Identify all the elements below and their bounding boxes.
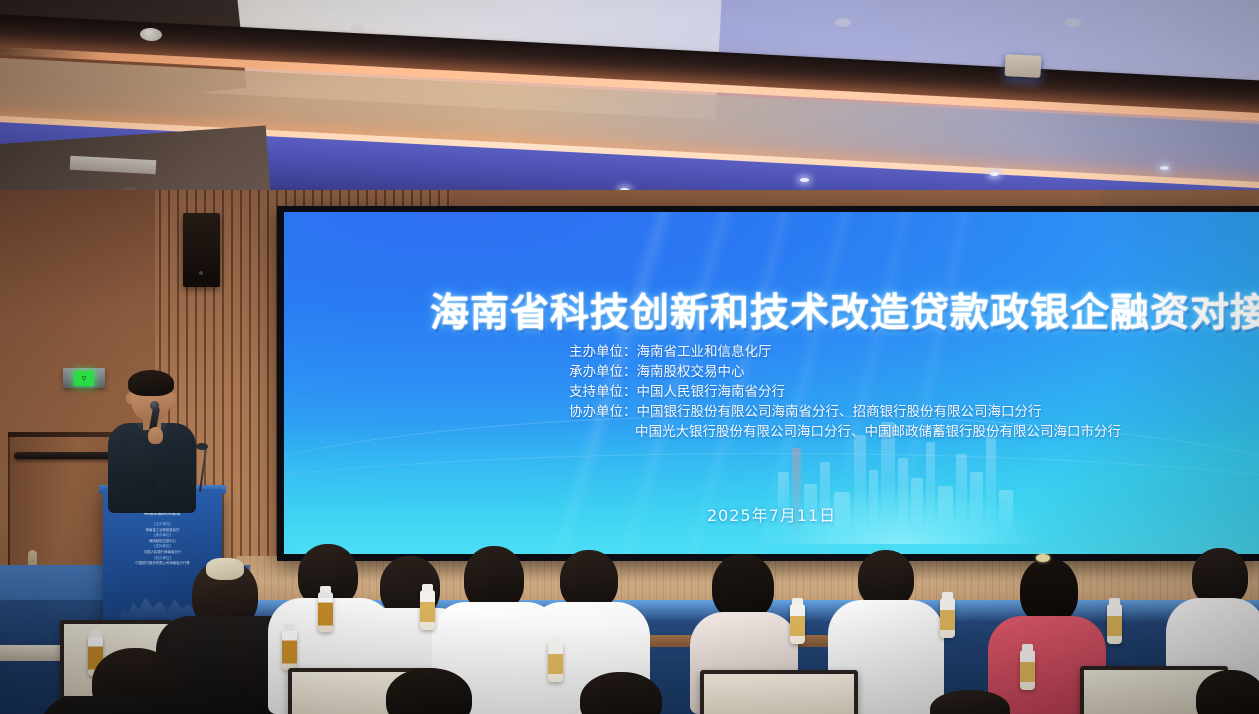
downlight [1160,166,1169,170]
organizer-line: 支持单位：中国人民银行海南省分行 [569,382,1121,402]
person-head [560,550,618,610]
ceiling-fixture [835,18,851,27]
person-head [712,554,774,620]
screen-organizer-list: 主办单位：海南省工业和信息化厅 承办单位：海南股权交易中心 支持单位：中国人民银… [569,342,1121,442]
ceiling-fixture [350,24,366,33]
ceiling [0,0,1259,215]
water-bottle[interactable] [548,642,563,682]
door-push-bar[interactable] [14,452,120,459]
person-torso [40,696,230,714]
speaker-hair [128,370,174,396]
speaker-hand [148,427,163,444]
exit-sign: ▿ [63,368,105,388]
water-bottle[interactable] [318,592,333,632]
wall-speaker [183,213,220,287]
hair-clip [1036,554,1050,562]
water-bottle[interactable] [1107,604,1122,644]
audience-area [0,520,1259,714]
ceiling-fixture [1065,18,1081,27]
organizer-line-continued: 中国光大银行股份有限公司海口分行、中国邮政储蓄银行股份有限公司海口市分行 [569,422,1121,442]
ceiling-mounted-device [1004,54,1041,78]
water-bottle[interactable] [790,604,805,644]
hair-clip [206,558,244,580]
water-bottle[interactable] [1020,650,1035,690]
organizer-line: 承办单位：海南股权交易中心 [569,362,1121,382]
water-bottle[interactable] [282,630,297,670]
exit-sign-icon: ▿ [74,371,94,386]
screen-title: 海南省科技创新和技术改造贷款政银企融资对接会 [430,282,1259,338]
water-bottle[interactable] [940,598,955,638]
water-bottle[interactable] [420,590,435,630]
led-screen[interactable]: 海南省科技创新和技术改造贷款政银企融资对接会 主办单位：海南省工业和信息化厅 承… [284,212,1259,554]
chair[interactable] [700,670,858,714]
organizer-line: 主办单位：海南省工业和信息化厅 [569,342,1121,362]
conference-hall-photo: ▿ 海南省科技创新和技术改造贷款政银企融资对接会 [0,0,1259,714]
downlight [990,172,999,176]
downlight [800,178,809,182]
lectern-microphone-head [196,443,208,450]
person-head [1020,558,1078,624]
organizer-line: 协办单位：中国银行股份有限公司海南省分行、招商银行股份有限公司海口分行 [569,402,1121,422]
